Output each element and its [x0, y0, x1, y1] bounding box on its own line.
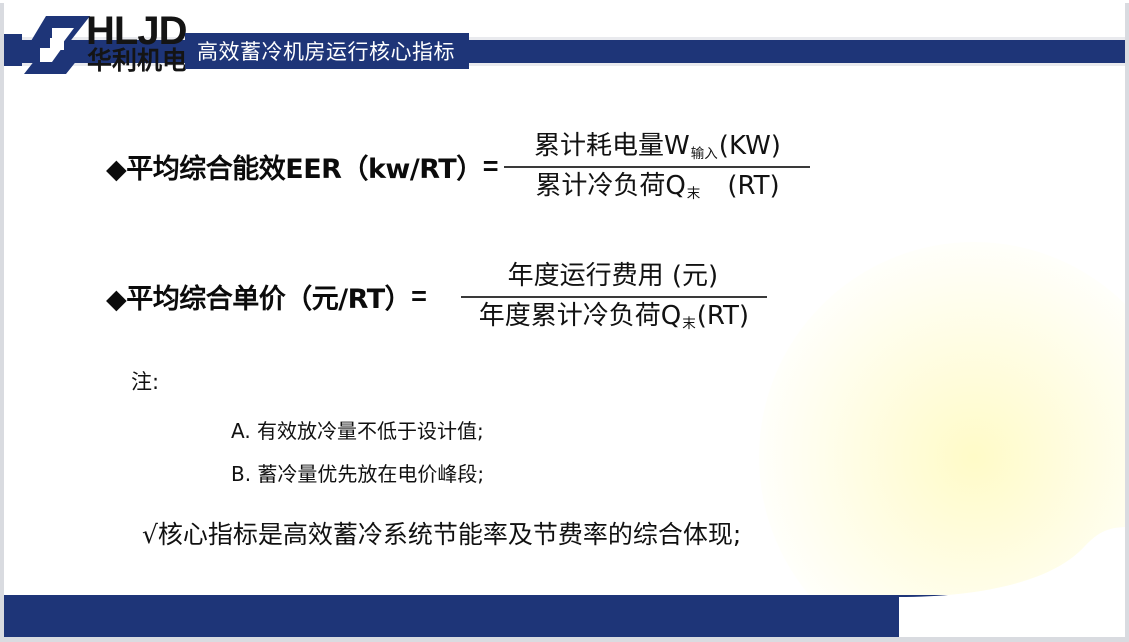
note-item-b: B. 蓄冷量优先放在电价峰段; [231, 458, 484, 487]
frame-bottom-border [0, 637, 1129, 642]
frame-right-border [1125, 0, 1129, 642]
formula-eer-numerator-subscript: 输入 [690, 146, 719, 162]
frame-top-border [0, 0, 1129, 3]
formula-price-fraction: 年度运行费用 (元) 年度累计冷负荷Q末(RT) [461, 262, 767, 332]
frame-left-border [0, 0, 4, 642]
formula-price-denominator-trail: (RT) [697, 301, 749, 331]
formula-eer-fraction: 累计耗电量W输入(KW) 累计冷负荷Q末 (RT) [504, 132, 810, 202]
formula-eer-denominator-lead: 累计冷负荷Q [535, 171, 685, 201]
formula-price-fraction-bar [461, 296, 767, 298]
logo-chinese-text: 华利机电 [87, 48, 187, 74]
formula-eer: ◆平均综合能效EER（kw/RT） = 累计耗电量W输入(KW) 累计冷负荷Q末… [106, 132, 810, 202]
logo-latin-text: HLJD [86, 12, 186, 50]
formula-price-denominator-lead: 年度累计冷负荷Q [479, 301, 681, 331]
formula-eer-denominator: 累计冷负荷Q末 (RT) [535, 172, 779, 202]
formula-eer-bullet: ◆ [106, 154, 126, 185]
formula-price-denominator: 年度累计冷负荷Q末(RT) [479, 302, 749, 332]
formula-price-label: ◆平均综合单价（元/RT） [106, 277, 411, 316]
formula-eer-denominator-trail: (RT) [701, 171, 779, 201]
formula-eer-label: ◆平均综合能效EER（kw/RT） [106, 147, 483, 186]
formula-price-label-text: 平均综合单价（元/RT） [126, 284, 411, 315]
formula-average-price: ◆平均综合单价（元/RT） = 年度运行费用 (元) 年度累计冷负荷Q末(RT) [106, 262, 767, 332]
hljd-hexagon-h-logo-icon [22, 14, 92, 76]
formula-eer-denominator-subscript: 末 [686, 186, 702, 202]
formula-price-numerator-lead: 年度运行费用 (元) [508, 261, 719, 291]
background-glow [759, 242, 1129, 642]
slide-title-plate: 高效蓄冷机房运行核心指标 [185, 33, 469, 69]
formula-price-numerator-subscript [718, 276, 720, 292]
logo-wordmark: HLJD 华利机电 [86, 12, 196, 78]
company-logo: HLJD 华利机电 [22, 12, 192, 78]
formula-price-equals: = [411, 281, 427, 312]
formula-eer-numerator-trail: (KW) [719, 131, 781, 161]
formula-eer-numerator-lead: 累计耗电量W [534, 131, 690, 161]
slide-canvas: HLJD 华利机电 高效蓄冷机房运行核心指标 ◆平均综合能效EER（kw/RT）… [0, 0, 1129, 642]
formula-price-bullet: ◆ [106, 284, 126, 315]
formula-price-denominator-subscript: 末 [681, 316, 697, 332]
page-title: 高效蓄冷机房运行核心指标 [197, 36, 455, 66]
formula-eer-numerator: 累计耗电量W输入(KW) [534, 132, 781, 162]
formula-eer-fraction-bar [504, 166, 810, 168]
formula-price-numerator: 年度运行费用 (元) [508, 262, 721, 292]
formula-eer-label-text: 平均综合能效EER（kw/RT） [126, 154, 482, 185]
footer-band [0, 595, 1129, 637]
note-item-a: A. 有效放冷量不低于设计值; [231, 415, 484, 444]
notes-heading: 注: [131, 366, 159, 396]
conclusion-text: √核心指标是高效蓄冷系统节能率及节费率的综合体现; [142, 515, 741, 551]
formula-eer-equals: = [483, 151, 499, 182]
